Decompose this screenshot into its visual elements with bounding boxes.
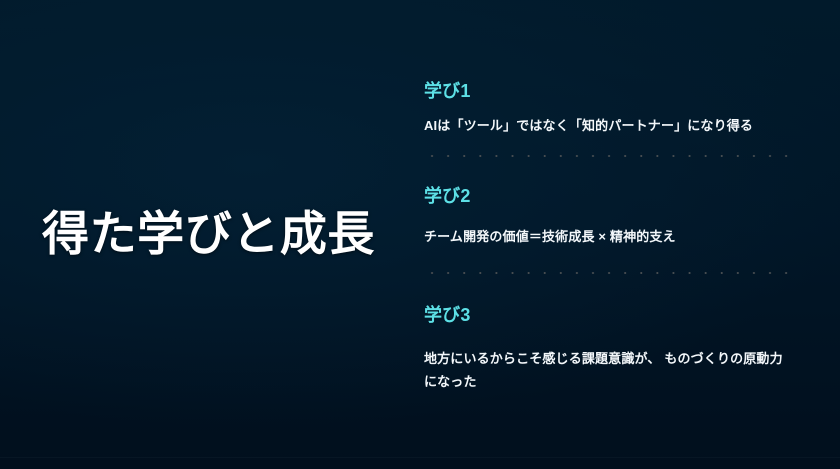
- spacer: [424, 274, 790, 304]
- lesson-item-3: 学び3 地方にいるからこそ感じる課題意識が、 ものづくりの原動力になった: [424, 304, 790, 393]
- lesson-item-1: 学び1 AIは「ツール」ではなく「知的パートナー」になり得る: [424, 80, 790, 137]
- lesson-body-3: 地方にいるからこそ感じる課題意識が、 ものづくりの原動力になった: [424, 348, 790, 393]
- lesson-body-1: AIは「ツール」ではなく「知的パートナー」になり得る: [424, 115, 790, 137]
- spacer: [424, 249, 790, 272]
- lesson-heading-3: 学び3: [424, 304, 790, 327]
- lesson-heading-1: 学び1: [424, 80, 790, 103]
- bottom-hairline: [0, 457, 840, 458]
- dotted-divider-1: [424, 155, 790, 157]
- lesson-item-2: 学び2 チーム開発の価値＝技術成長 × 精神的支え: [424, 185, 790, 249]
- page-title: 得た学びと成長: [0, 208, 375, 261]
- spacer: [424, 157, 790, 185]
- lesson-heading-2: 学び2: [424, 185, 790, 208]
- lesson-body-2: チーム開発の価値＝技術成長 × 精神的支え: [424, 226, 790, 248]
- title-column: 得た学びと成長: [0, 0, 400, 469]
- dotted-divider-2: [424, 272, 790, 274]
- spacer: [424, 137, 790, 155]
- presentation-slide: 得た学びと成長 学び1 AIは「ツール」ではなく「知的パートナー」になり得る 学…: [0, 0, 840, 469]
- lesson-list: 学び1 AIは「ツール」ではなく「知的パートナー」になり得る 学び2 チーム開発…: [424, 80, 790, 393]
